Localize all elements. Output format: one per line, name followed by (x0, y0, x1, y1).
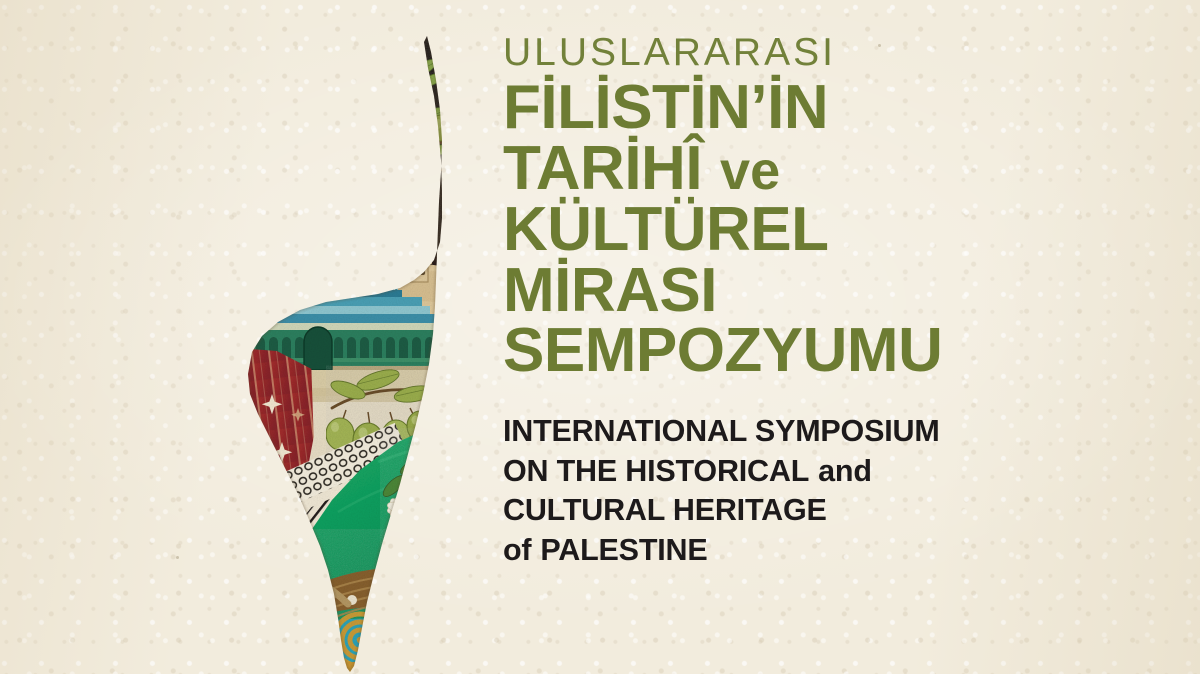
headline-line-4: MİRASI (503, 261, 1143, 322)
bottom-bands (288, 662, 468, 672)
subhead-line-4: ofPALESTINE (503, 531, 1143, 571)
subhead-line-2: ON THE HISTORICALand (503, 452, 1143, 492)
headline-line-3: KÜLTÜREL (503, 200, 1143, 261)
minaret (402, 185, 432, 282)
subhead-palestine: PALESTINE (540, 533, 707, 567)
crescent-moon (323, 200, 386, 268)
map-fill-layers (228, 22, 473, 672)
paper-speck (176, 556, 179, 559)
palestine-map-illustration (228, 22, 473, 672)
ceramic-spiral (288, 614, 456, 670)
olive-branch (310, 36, 452, 256)
subhead-line-1: INTERNATIONAL SYMPOSIUM (503, 412, 1143, 452)
kicker-line: ULUSLARARASI (503, 32, 1143, 73)
headline-tarihi: TARİHÎ (503, 134, 702, 203)
subhead-line-3: CULTURAL HERITAGE (503, 491, 1143, 531)
subhead-and: and (818, 454, 872, 488)
headline-line-2: TARİHÎve (503, 139, 1143, 200)
headline-line-1: FİLİSTİN’İN (503, 78, 1143, 139)
headline: FİLİSTİN’İN TARİHÎve KÜLTÜREL MİRASI SEM… (503, 78, 1143, 382)
subhead-of: of (503, 533, 531, 567)
title-text-block: ULUSLARARASI FİLİSTİN’İN TARİHÎve KÜLTÜR… (503, 32, 1143, 571)
subhead-on-the-historical: ON THE HISTORICAL (503, 454, 809, 488)
subhead: INTERNATIONAL SYMPOSIUM ON THE HISTORICA… (503, 412, 1143, 571)
night-sky-layer (228, 22, 473, 274)
dome-of-the-rock (240, 153, 444, 330)
headline-line-5: SEMPOZYUMU (503, 321, 1143, 382)
poster-canvas: ULUSLARARASI FİLİSTİN’İN TARİHÎve KÜLTÜR… (0, 0, 1200, 674)
headline-ve: ve (720, 141, 780, 201)
